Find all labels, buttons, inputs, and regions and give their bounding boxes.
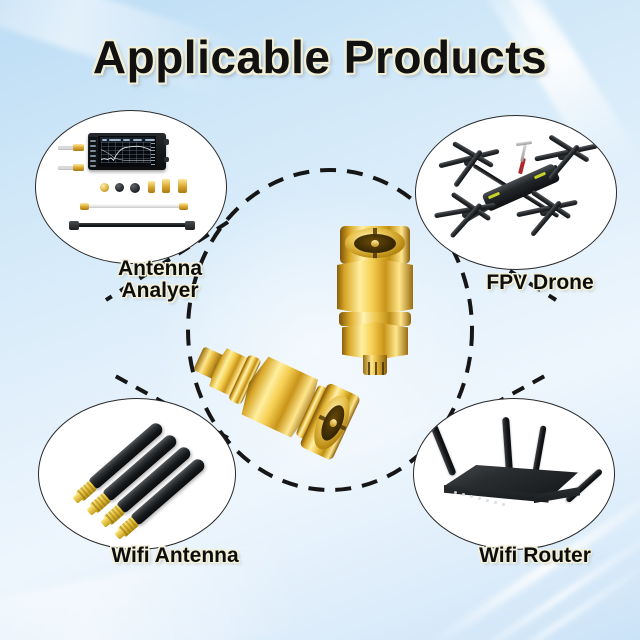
rf-cable-white — [84, 204, 184, 208]
router-led — [462, 493, 465, 496]
router-antenna — [502, 417, 513, 473]
router-led — [494, 501, 497, 504]
drone-antenna — [520, 144, 527, 162]
vna-side-labels — [89, 137, 97, 166]
vna-trace-graph — [101, 142, 151, 162]
caption-fpv-drone: FPV Drone — [440, 272, 640, 294]
cal-kit-part — [178, 179, 187, 193]
vna-screen — [98, 136, 156, 167]
cal-kit-part — [148, 181, 155, 193]
light-streak-decoration — [459, 554, 640, 640]
router-antenna — [532, 425, 547, 475]
vna-side-button — [164, 139, 169, 145]
router-antenna — [430, 424, 457, 477]
router-led — [502, 503, 505, 506]
product-bubble-wifi-router[interactable] — [413, 398, 615, 550]
applicable-products-banner: Applicable Products — [0, 0, 640, 640]
caption-wifi-router: Wifi Router — [430, 545, 640, 567]
caption-wifi-antenna: Wifi Antenna — [50, 545, 300, 567]
router-led — [486, 499, 489, 502]
router-led — [454, 491, 457, 494]
router-led — [478, 497, 481, 500]
cal-kit-part — [100, 183, 109, 192]
product-bubble-antenna-analyzer[interactable] — [35, 110, 227, 264]
page-title: Applicable Products — [0, 30, 640, 84]
vna-port-cable — [58, 164, 84, 171]
cal-kit-part — [130, 183, 140, 193]
vna-screen-scale — [151, 141, 155, 164]
vna-port-cable — [58, 144, 84, 151]
router-led — [470, 495, 473, 498]
antenna-analyzer-illustration — [36, 111, 226, 263]
usb-cable-black — [74, 223, 190, 227]
cal-kit-part — [162, 179, 170, 193]
sma-connector-upright — [330, 222, 426, 382]
fpv-drone-illustration — [416, 116, 616, 269]
caption-antenna-analyzer: Antenna Analyer — [60, 258, 260, 302]
vna-device-body — [88, 133, 166, 170]
product-bubble-fpv-drone[interactable] — [415, 115, 617, 270]
wifi-router-illustration — [414, 399, 614, 549]
vna-side-button — [164, 157, 169, 162]
cal-kit-part — [115, 183, 124, 192]
